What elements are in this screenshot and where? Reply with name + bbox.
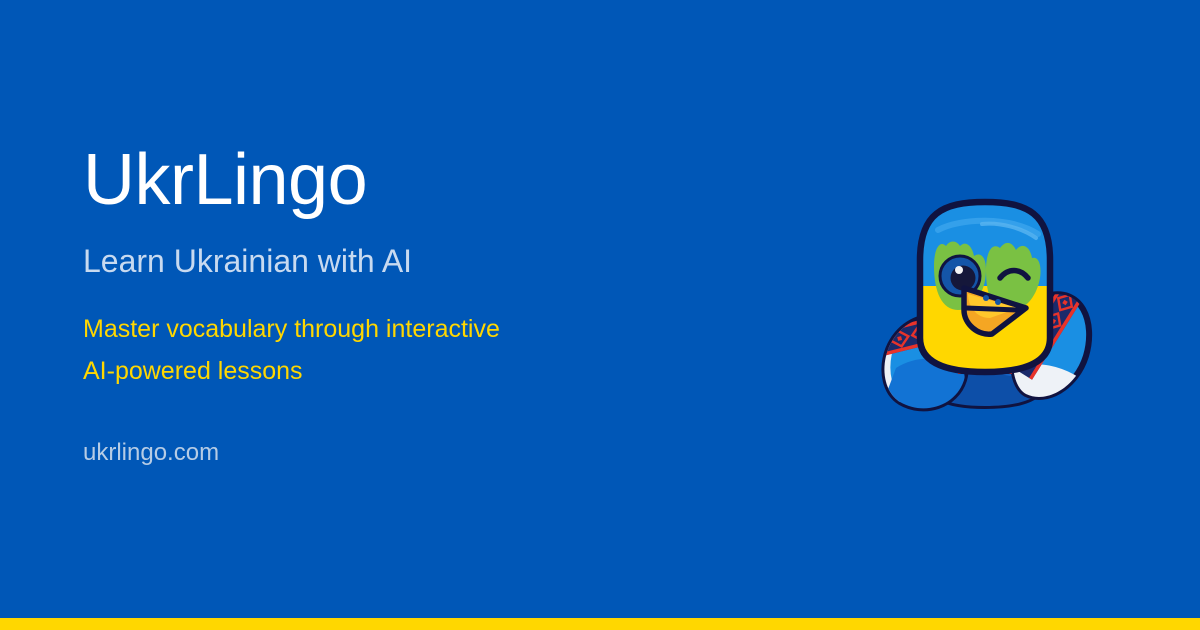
description-line-2: AI-powered lessons (83, 350, 563, 392)
headline-block: UkrLingo Learn Ukrainian with AI Master … (83, 140, 723, 468)
flag-stripe-yellow (0, 618, 1200, 630)
page-title: UkrLingo (83, 140, 723, 220)
description-line-1: Master vocabulary through interactive (83, 308, 563, 350)
owl-head (910, 190, 1060, 396)
flag-bar (0, 618, 1200, 630)
site-url: ukrlingo.com (83, 438, 723, 468)
og-card: UkrLingo Learn Ukrainian with AI Master … (0, 0, 1200, 630)
owl-mascot-icon (860, 190, 1110, 430)
tagline: Learn Ukrainian with AI (83, 242, 723, 280)
description: Master vocabulary through interactive AI… (83, 308, 563, 392)
